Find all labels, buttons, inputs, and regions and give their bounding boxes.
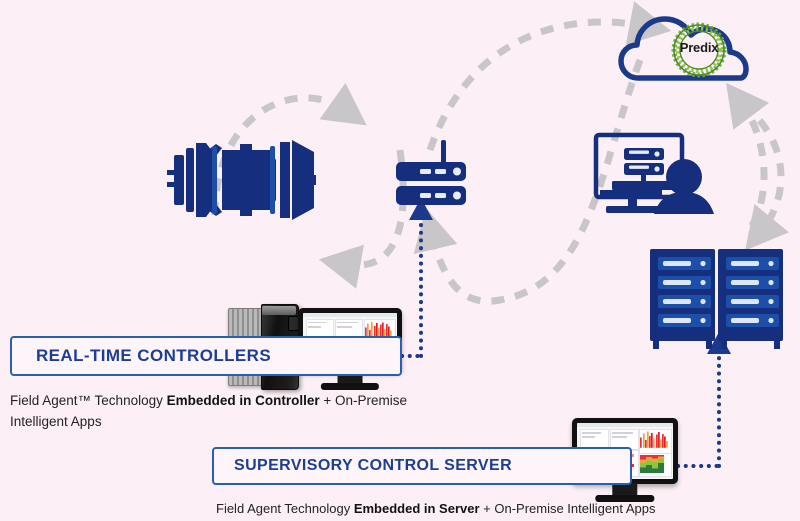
controller-top-cap	[262, 306, 296, 315]
dashboard-topbar	[303, 313, 397, 317]
dashboard-text-line	[337, 322, 358, 324]
dashboard-bar-chart	[365, 321, 393, 337]
caption-server-tail: + On-Premise Intelligent Apps	[480, 501, 656, 516]
dashboard-text-line	[308, 326, 321, 328]
dashboard-bar-chart	[640, 431, 669, 448]
label-real-time-controllers[interactable]: REAL-TIME CONTROLLERS	[10, 336, 402, 376]
dashboard-text-line	[308, 322, 327, 324]
dashboard-text-line	[582, 436, 595, 438]
dashboard-topbar	[577, 423, 673, 427]
icons-layer	[0, 0, 800, 521]
caption-server-bold: Embedded in Server	[354, 501, 480, 516]
label-supervisory-control-server[interactable]: SUPERVISORY CONTROL SERVER	[212, 447, 632, 485]
dashboard-text-line	[337, 326, 352, 328]
predix-label: Predix	[668, 40, 730, 55]
caption-server: Field Agent Technology Embedded in Serve…	[216, 498, 776, 519]
dashboard-text-line	[582, 432, 601, 434]
diagram-canvas: 28 25	[0, 0, 800, 521]
jet-engine-icon	[167, 140, 316, 220]
dashboard-text-line	[612, 436, 627, 438]
caption-controller-bold: Embedded in Controller	[167, 393, 320, 408]
caption-server-lead: Field Agent Technology	[216, 501, 354, 516]
edge-gateway-server-icon	[396, 140, 466, 205]
caption-controller-lead: Field Agent™ Technology	[10, 393, 167, 408]
server-racks-icon	[650, 249, 783, 349]
dashboard-text-line	[612, 432, 633, 434]
label-supervisory-control-server-text: SUPERVISORY CONTROL SERVER	[214, 457, 512, 475]
dashboard-stacked-chart	[640, 455, 669, 473]
label-real-time-controllers-text: REAL-TIME CONTROLLERS	[12, 346, 271, 366]
monitor-base	[321, 383, 379, 390]
caption-controller: Field Agent™ Technology Embedded in Cont…	[10, 390, 430, 432]
operator-monitor-person-icon	[596, 135, 714, 214]
